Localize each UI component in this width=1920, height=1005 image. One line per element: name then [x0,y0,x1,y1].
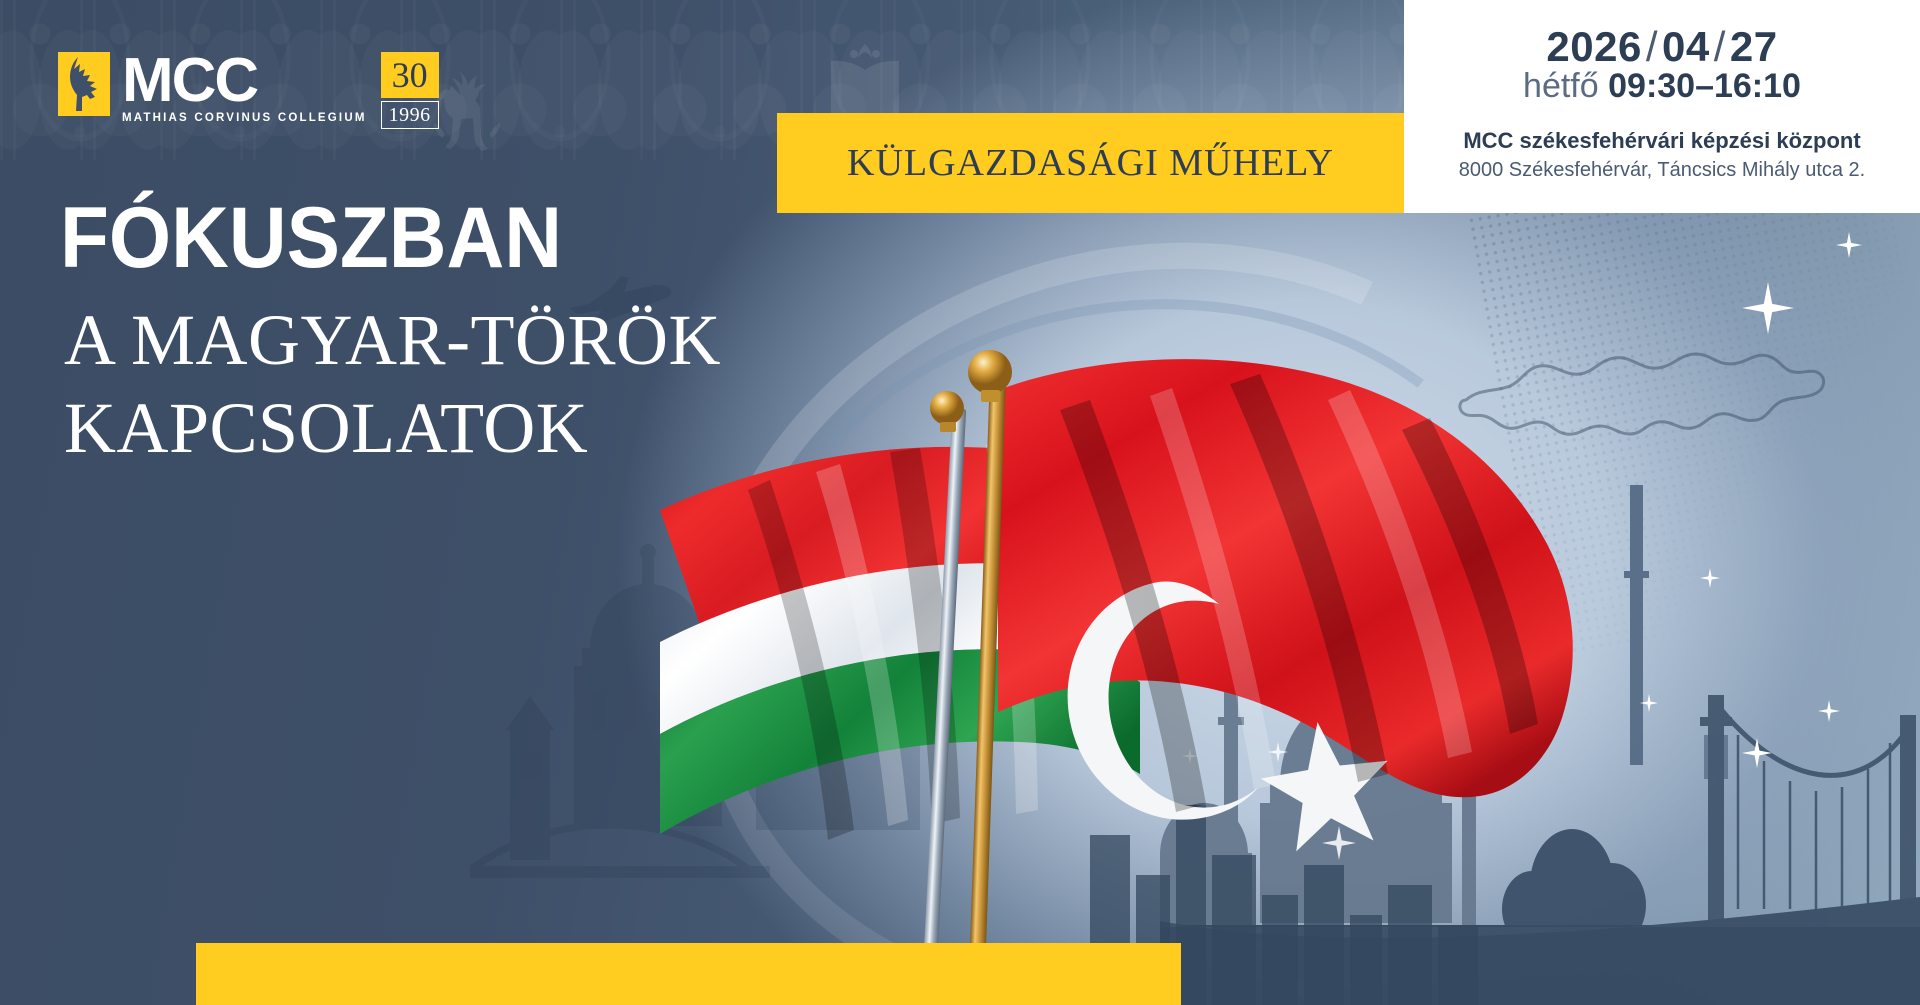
bottom-accent-bar [196,943,1181,1005]
mcc-logo-tagline: MATHIAS CORVINUS COLLEGIUM [122,112,367,124]
anniversary-years: 30 [381,52,439,98]
anniversary-badge: 30 1996 [381,52,439,129]
headline-line-1: A MAGYAR-TÖRÖK [64,297,721,385]
workshop-banner: KÜLGAZDASÁGI MŰHELY [777,113,1404,213]
flags-illustration [620,330,1730,950]
mcc-logo[interactable]: MCC MATHIAS CORVINUS COLLEGIUM 30 1996 [58,52,439,129]
headline-block: FÓKUSZBAN A MAGYAR-TÖRÖK KAPCSOLATOK [60,195,721,473]
event-date: 2026/04/27 [1428,24,1896,69]
event-poster: MCC MATHIAS CORVINUS COLLEGIUM 30 1996 F… [0,0,1920,1005]
founded-year: 1996 [381,101,439,129]
event-venue: MCC székesfehérvári képzési központ [1428,128,1896,154]
mcc-raven-profile-icon [58,52,110,116]
turkey-flag [998,359,1573,855]
event-weekday: hétfő [1523,67,1599,105]
event-address: 8000 Székesfehérvár, Táncsics Mihály utc… [1428,159,1896,182]
date-separator: / [1642,23,1662,70]
event-info-card: 2026/04/27 hétfő 09:30–16:10 MCC székesf… [1404,0,1920,213]
event-time-row: hétfő 09:30–16:10 [1428,67,1896,106]
workshop-banner-label: KÜLGAZDASÁGI MŰHELY [847,141,1334,185]
headline-kicker: FÓKUSZBAN [60,195,675,281]
mcc-logo-wordmark: MCC [122,52,367,109]
event-day: 27 [1730,23,1778,70]
event-month: 04 [1662,23,1710,70]
date-separator: / [1710,23,1730,70]
event-year: 2026 [1546,23,1641,70]
headline-line-2: KAPCSOLATOK [64,385,721,473]
event-time-range: 09:30–16:10 [1608,67,1801,105]
